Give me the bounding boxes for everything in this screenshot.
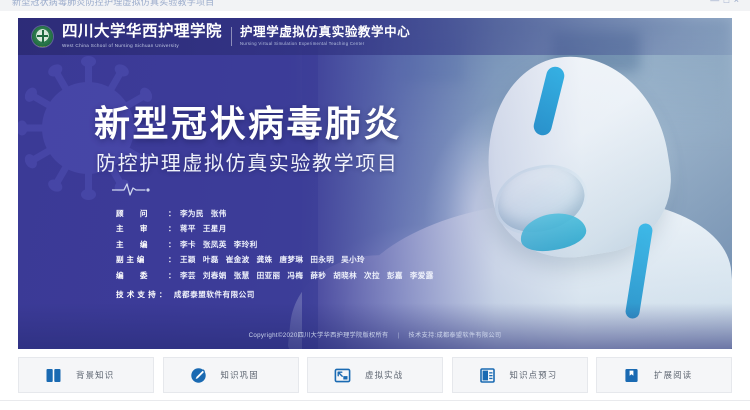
credit-row: 主 编 ： 李卡张凤英李玲利 <box>116 239 441 250</box>
copyright-support: 技术支持:成都泰盟软件有限公司 <box>408 332 501 339</box>
nav-button-label: 背景知识 <box>76 369 114 381</box>
bookmark-icon <box>622 366 641 385</box>
credit-label: 副 主 编 <box>116 254 168 265</box>
center-name-en: Nursing Virtual Simulation Experimental … <box>240 41 410 46</box>
ecg-heartbeat-icon <box>112 181 166 197</box>
nav-button-label: 知识点预习 <box>510 369 558 381</box>
credit-names: 李芸刘春娟张慧田亚丽冯梅薛秒胡晓林次拉彭嘉李爱露 <box>180 270 441 281</box>
project-title-sub: 防控护理虚拟仿真实验教学项目 <box>96 154 398 174</box>
browser-tab-title[interactable]: 新型冠状病毒肺炎防控护理虚拟仿真实验教学项目 <box>12 0 214 8</box>
credit-colon: ： <box>168 270 176 281</box>
project-title-main: 新型冠状病毒肺炎 <box>94 106 402 142</box>
school-brand: 四川大学华西护理学院 West China School of Nursing … <box>62 24 222 48</box>
nav-button-label: 扩展阅读 <box>654 369 692 381</box>
credit-colon: ： <box>168 223 176 234</box>
credit-label: 主 编 <box>116 239 168 250</box>
credit-colon: ： <box>168 208 176 219</box>
credit-row: 编 委 ： 李芸刘春娟张慧田亚丽冯梅薛秒胡晓林次拉彭嘉李爱露 <box>116 270 441 281</box>
credit-label: 主 审 <box>116 223 168 234</box>
module-button-bar: 背景知识 知识巩固 虚拟实战 <box>18 358 732 392</box>
window-controls[interactable]: — □ × <box>710 0 740 5</box>
credit-names: 王颖叶磊崔金波龚姝唐梦琳田永明吴小玲 <box>180 254 372 265</box>
nav-button-label: 虚拟实战 <box>365 369 403 381</box>
bottom-divider <box>0 400 750 401</box>
hero-header-bar: 四川大学华西护理学院 West China School of Nursing … <box>18 18 732 55</box>
brand-divider <box>231 27 232 46</box>
edit-pen-icon <box>189 366 208 385</box>
browser-chrome-strip: 新型冠状病毒肺炎防控护理虚拟仿真实验教学项目 — □ × <box>0 0 750 11</box>
credit-label: 顾 问 <box>116 208 168 219</box>
book-icon <box>44 366 63 385</box>
credit-names: 蒋平王星月 <box>180 223 234 234</box>
credit-names: 李卡张凤英李玲利 <box>180 239 265 250</box>
photo-blue-overlay <box>302 18 732 349</box>
document-list-icon <box>478 366 497 385</box>
school-name-cn: 四川大学华西护理学院 <box>62 24 222 40</box>
tech-support-value: 成都泰盟软件有限公司 <box>174 289 255 300</box>
copyright-text: Copyright©2020四川大学华西护理学院版权所有 <box>249 332 389 339</box>
hero-bottom-fade <box>18 303 732 349</box>
center-brand: 护理学虚拟仿真实验教学中心 Nursing Virtual Simulation… <box>240 26 410 47</box>
nav-button-knowledge-preview[interactable]: 知识点预习 <box>452 357 588 393</box>
copyright-line: Copyright©2020四川大学华西护理学院版权所有 | 技术支持:成都泰盟… <box>18 330 732 339</box>
hero-banner: 四川大学华西护理学院 West China School of Nursing … <box>18 18 732 349</box>
nav-button-background-knowledge[interactable]: 背景知识 <box>18 357 154 393</box>
screen-expand-icon <box>333 366 352 385</box>
credit-label: 编 委 <box>116 270 168 281</box>
nav-button-label: 知识巩固 <box>221 369 259 381</box>
university-crest-icon <box>32 26 53 47</box>
tech-support-line: 技 术 支 持 ： 成都泰盟软件有限公司 <box>116 289 255 300</box>
credit-colon: ： <box>168 254 176 265</box>
credit-row: 主 审 ： 蒋平王星月 <box>116 223 441 234</box>
credits-block: 顾 问 ： 李为民张伟 主 审 ： 蒋平王星月 主 编 ： 李卡张凤英李玲利 副… <box>116 208 441 285</box>
credit-names: 李为民张伟 <box>180 208 234 219</box>
copyright-separator: | <box>398 332 400 339</box>
credit-colon: ： <box>168 239 176 250</box>
nav-button-extended-reading[interactable]: 扩展阅读 <box>596 357 732 393</box>
school-name-en: West China School of Nursing Sichuan Uni… <box>62 43 222 49</box>
credit-row: 顾 问 ： 李为民张伟 <box>116 208 441 219</box>
tech-support-label: 技 术 支 持 ： <box>116 289 167 300</box>
page-body: 四川大学华西护理学院 West China School of Nursing … <box>0 11 750 410</box>
nav-button-knowledge-consolidation[interactable]: 知识巩固 <box>163 357 299 393</box>
center-name-cn: 护理学虚拟仿真实验教学中心 <box>240 26 410 39</box>
credit-row: 副 主 编 ： 王颖叶磊崔金波龚姝唐梦琳田永明吴小玲 <box>116 254 441 265</box>
nav-button-virtual-practice[interactable]: 虚拟实战 <box>307 357 443 393</box>
